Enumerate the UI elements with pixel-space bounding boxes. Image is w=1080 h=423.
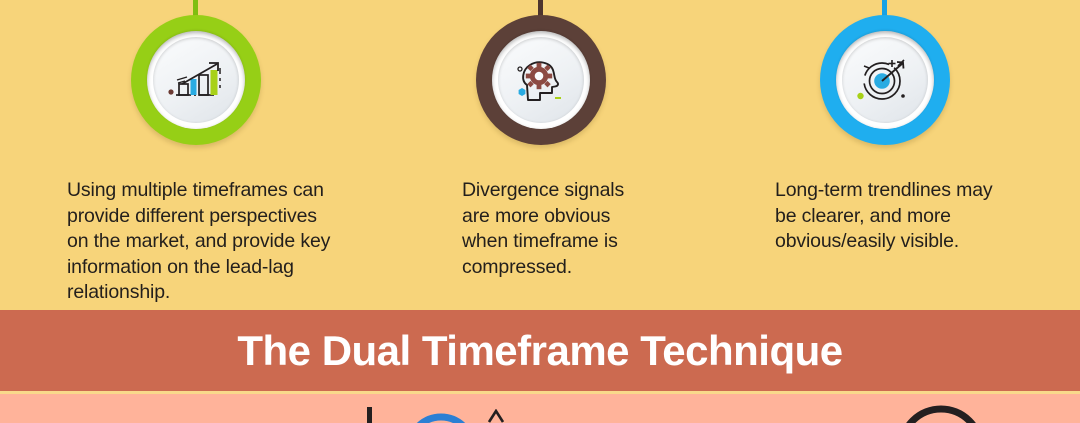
medallion-head-gear[interactable] [476, 15, 606, 145]
medallion-target[interactable] [820, 15, 950, 145]
circle-outline-icon-clipped [893, 394, 989, 423]
wifi-signal-arc-icon-clipped [405, 394, 477, 423]
page-title: The Dual Timeframe Technique [237, 327, 842, 375]
medallion-disc-1 [153, 37, 239, 123]
infographic-canvas: Using multiple timeframes can provide di… [0, 0, 1080, 423]
column-1-text: Using multiple timeframes can provide di… [67, 178, 387, 306]
bottom-strip [0, 394, 1080, 423]
column-2-text: Divergence signals are more obvious when… [462, 178, 762, 280]
bar-chart-growth-icon [167, 58, 225, 102]
head-gear-thinking-icon [514, 55, 568, 105]
column-3-text: Long-term trendlines may be clearer, and… [775, 178, 1075, 255]
arrow-fragment-icon-clipped [488, 409, 504, 423]
medallion-disc-3 [842, 37, 928, 123]
title-banner: The Dual Timeframe Technique [0, 310, 1080, 391]
medallion-bar-chart[interactable] [131, 15, 261, 145]
tick-mark-icon-clipped [366, 407, 374, 423]
target-bullseye-arrow-icon [857, 55, 913, 105]
medallion-disc-2 [498, 37, 584, 123]
